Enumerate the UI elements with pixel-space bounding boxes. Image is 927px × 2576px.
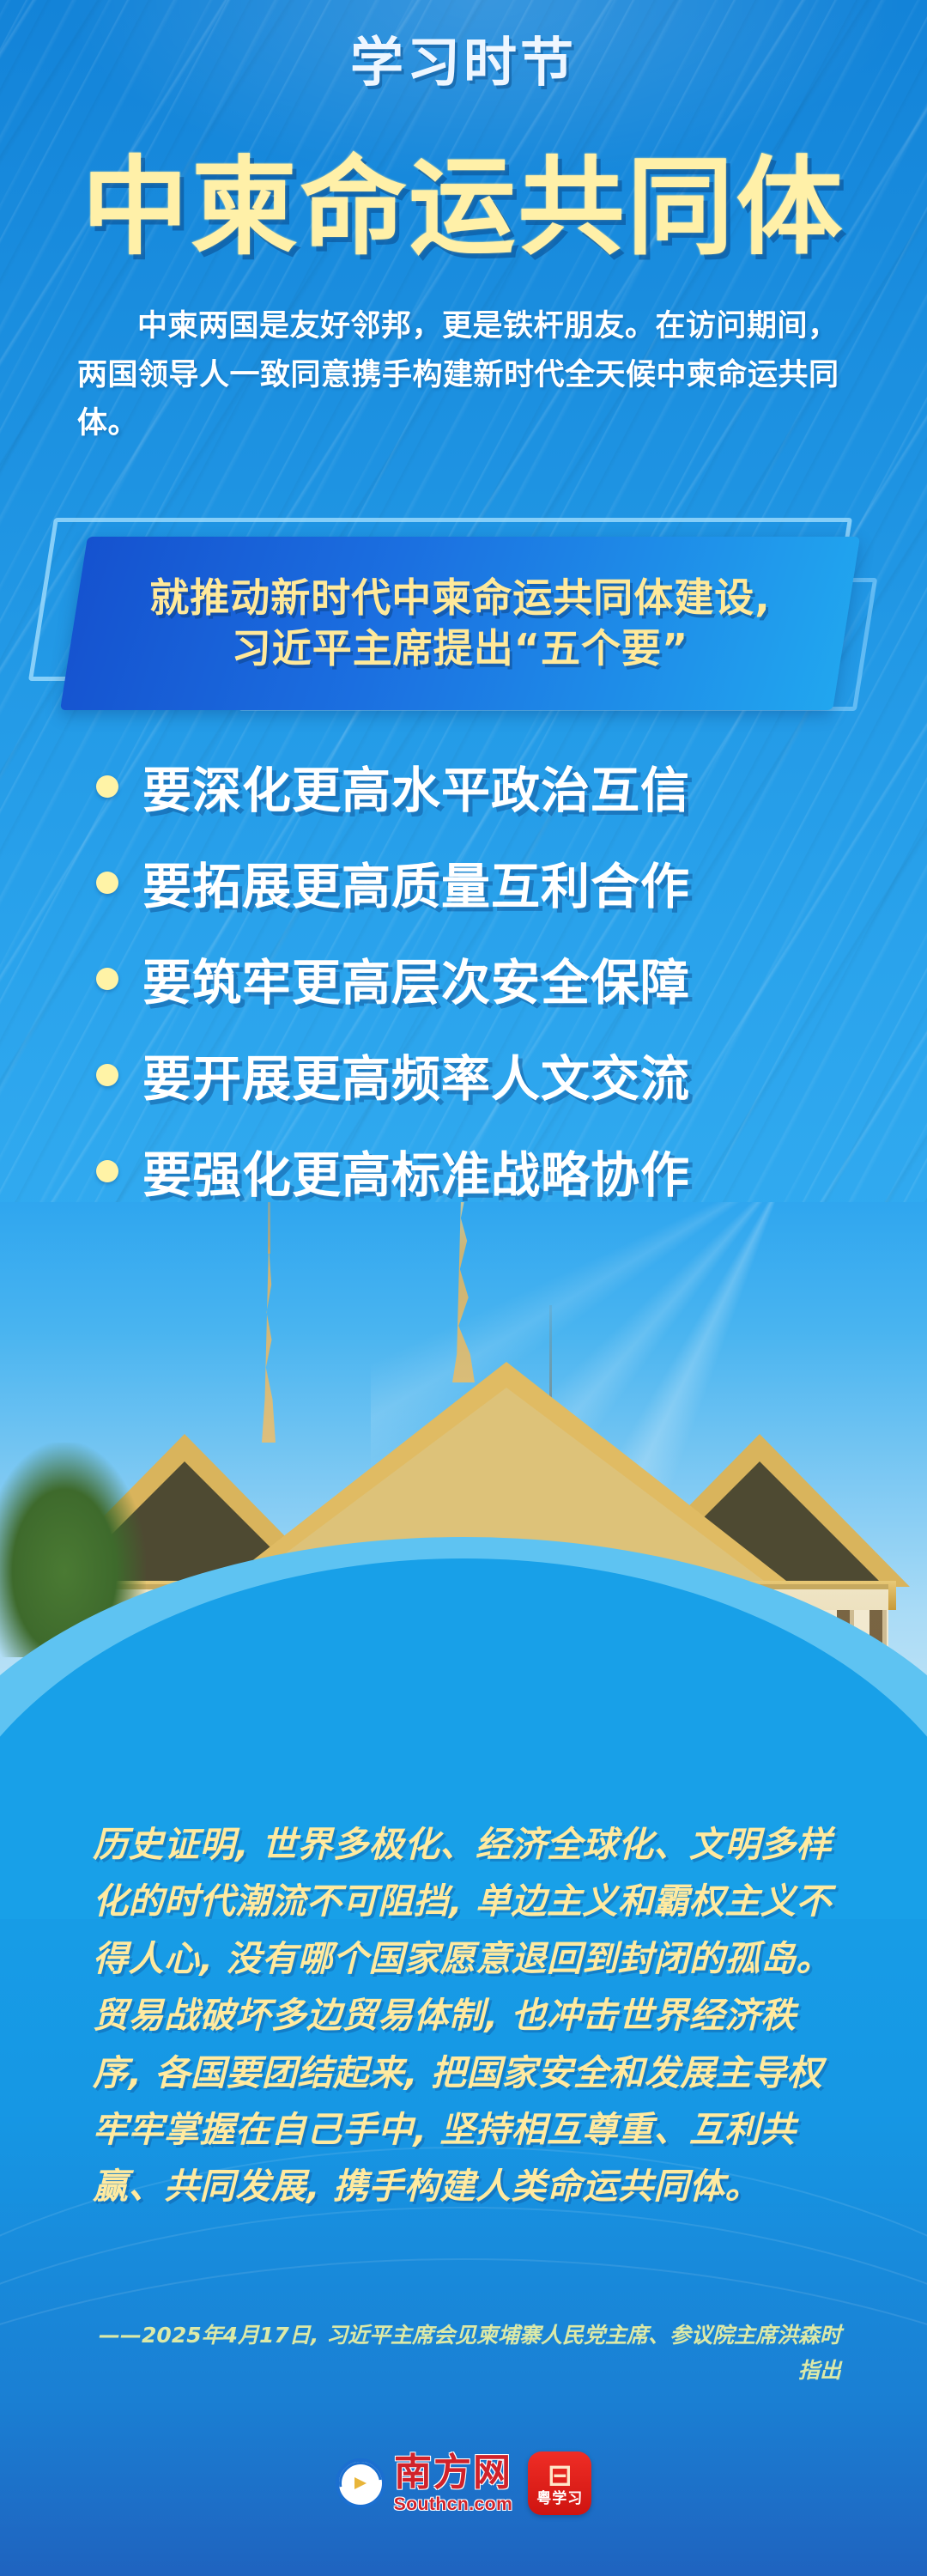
list-item: 要深化更高水平政治互信 bbox=[0, 738, 927, 835]
bullet-dot-icon bbox=[96, 968, 118, 990]
bullet-dot-icon bbox=[96, 1160, 118, 1182]
quote-attribution: ——2025年4月17日, 习近平主席会见柬埔寨人民党主席、参议院主席洪森时指出 bbox=[93, 2318, 841, 2388]
list-item-label: 要拓展更高质量互利合作 bbox=[142, 848, 690, 918]
southcn-wordmark: 南方网 Southcn.com bbox=[394, 2454, 513, 2513]
list-item: 要拓展更高质量互利合作 bbox=[0, 835, 927, 931]
quote-text: 历史证明, 世界多极化、经济全球化、文明多样化的时代潮流不可阻挡, 单边主义和霸… bbox=[93, 1816, 841, 2215]
brand-logo-text: 学习时节 bbox=[350, 19, 577, 96]
points-list: 要深化更高水平政治互信 要拓展更高质量互利合作 要筑牢更高层次安全保障 要开展更… bbox=[0, 738, 927, 1219]
yuexuexi-book-icon: ⊟ bbox=[548, 2461, 573, 2490]
southcn-name-cn: 南方网 bbox=[394, 2454, 512, 2492]
page-title-text: 中柬命运共同体 bbox=[82, 120, 845, 275]
yuexuexi-logo[interactable]: ⊟ 粤学习 bbox=[528, 2451, 591, 2515]
banner-line-1: 就推动新时代中柬命运共同体建设, bbox=[149, 573, 770, 623]
southcn-swirl-icon bbox=[336, 2458, 385, 2508]
list-item-label: 要强化更高标准战略协作 bbox=[142, 1136, 690, 1206]
intro-paragraph: 中柬两国是友好邻邦，更是铁杆朋友。在访问期间，两国领导人一致同意携手构建新时代全… bbox=[77, 302, 857, 448]
arc-3 bbox=[0, 2258, 927, 2576]
footer-logos: 南方网 Southcn.com ⊟ 粤学习 bbox=[0, 2451, 927, 2515]
list-item: 要筑牢更高层次安全保障 bbox=[0, 931, 927, 1027]
banner-line-2: 习近平主席提出“五个要” bbox=[232, 623, 688, 674]
southcn-logo[interactable]: 南方网 Southcn.com bbox=[336, 2454, 513, 2513]
list-item-label: 要筑牢更高层次安全保障 bbox=[142, 944, 690, 1014]
list-item-label: 要开展更高频率人文交流 bbox=[142, 1040, 690, 1110]
headline-banner: 就推动新时代中柬命运共同体建设, 习近平主席提出“五个要” bbox=[34, 511, 893, 717]
brand-logo: 学习时节 bbox=[0, 19, 927, 96]
bullet-dot-icon bbox=[96, 872, 118, 894]
southcn-name-en: Southcn.com bbox=[394, 2495, 513, 2513]
page-title: 中柬命运共同体 bbox=[0, 120, 927, 275]
list-item-label: 要深化更高水平政治互信 bbox=[142, 751, 690, 822]
bullet-dot-icon bbox=[96, 1064, 118, 1086]
list-item: 要强化更高标准战略协作 bbox=[0, 1123, 927, 1219]
bullet-dot-icon bbox=[96, 775, 118, 798]
banner-text: 就推动新时代中柬命运共同体建设, 习近平主席提出“五个要” bbox=[74, 537, 846, 710]
infographic-poster: 学习时节 中柬命运共同体 中柬两国是友好邻邦，更是铁杆朋友。在访问期间，两国领导… bbox=[0, 0, 927, 2576]
yuexuexi-label: 粤学习 bbox=[536, 2492, 583, 2506]
list-item: 要开展更高频率人文交流 bbox=[0, 1027, 927, 1123]
